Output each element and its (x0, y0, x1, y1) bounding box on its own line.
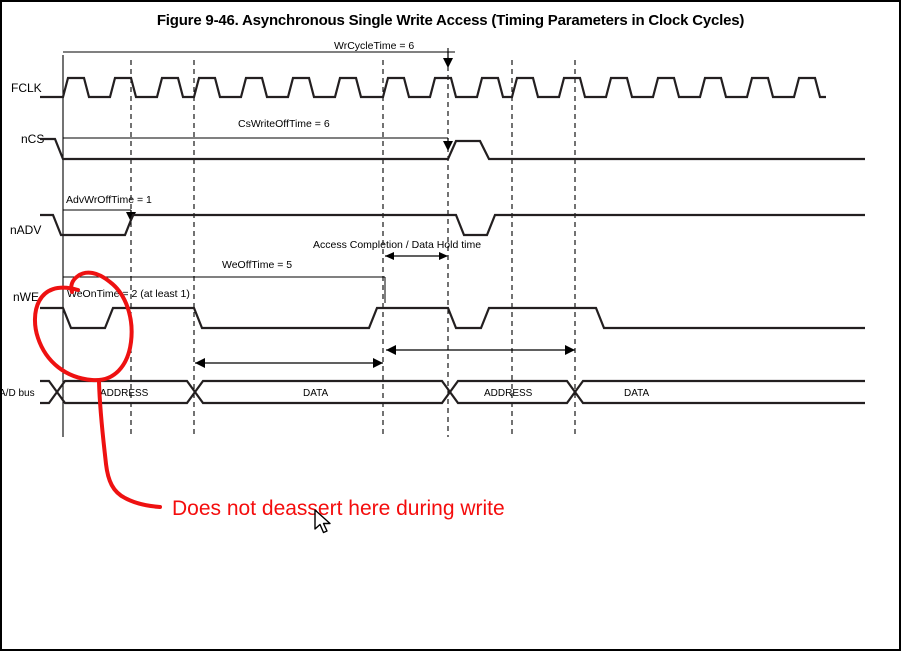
bus-segment-label-0: ADDRESS (100, 388, 149, 399)
param-access-completion-text: Access Completion / Data Hold time (313, 239, 481, 251)
annotation-text: Does not deassert here during write (172, 497, 505, 521)
bracket-cs-write-off-time: CsWriteOffTime = 6 (63, 118, 453, 151)
waveform-nwe (40, 308, 865, 328)
param-wr-cycle-time-text: WrCycleTime = 6 (334, 40, 414, 52)
param-cs-write-off-time-text: CsWriteOffTime = 6 (238, 118, 330, 130)
param-adv-wr-off-time-text: AdvWrOffTime = 1 (66, 194, 152, 206)
marker-access-completion: Access Completion / Data Hold time (313, 239, 481, 260)
waveform-nadv (40, 215, 865, 235)
marker-address-data-span-2 (386, 345, 575, 355)
signal-label-ad-bus: A/D bus (0, 388, 35, 399)
timing-diagram: FCLK nCS nADV nWE A/D bus WrCycleTime = … (0, 0, 901, 651)
bus-segment-label-1: DATA (303, 388, 329, 399)
bracket-wr-cycle-time: WrCycleTime = 6 (63, 40, 455, 68)
bus-segment-label-2: ADDRESS (484, 388, 533, 399)
param-we-off-time-text: WeOffTime = 5 (222, 259, 292, 271)
signal-label-nadv: nADV (10, 223, 41, 237)
waveform-ad-bus: ADDRESS DATA ADDRESS DATA (40, 381, 865, 403)
signal-label-nwe: nWE (13, 290, 39, 304)
bus-segment-label-3: DATA (624, 388, 650, 399)
bracket-adv-wr-off-time: AdvWrOffTime = 1 (63, 194, 152, 222)
param-we-on-time-text: WeOnTime = 2 (at least 1) (67, 288, 190, 300)
signal-label-fclk: FCLK (11, 81, 42, 95)
waveform-fclk (40, 78, 826, 97)
annotation-leader-line (99, 382, 160, 507)
figure-page: Figure 9-46. Asynchronous Single Write A… (0, 0, 901, 651)
marker-address-data-span-1 (195, 358, 383, 368)
